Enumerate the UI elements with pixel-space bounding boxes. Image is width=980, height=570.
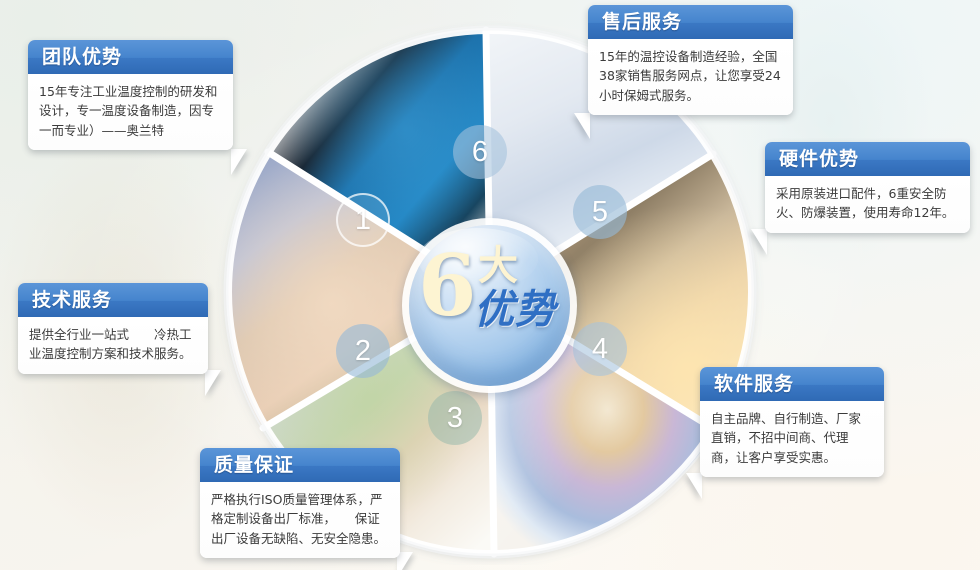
callout-team-body: 15年专注工业温度控制的研发和设计，专一温度设备制造，因专一而专业）——奥兰特 [28, 74, 233, 150]
segment-number-1[interactable]: 1 [336, 193, 390, 247]
segment-number-3-label: 3 [447, 402, 463, 435]
segment-number-5-label: 5 [592, 196, 608, 229]
segment-number-2-label: 2 [355, 335, 371, 368]
callout-team-advantage[interactable]: 团队优势 15年专注工业温度控制的研发和设计，专一温度设备制造，因专一而专业）—… [28, 40, 233, 150]
center-char-da: 大 [478, 246, 518, 286]
callout-tech-box: 技术服务 提供全行业一站式 冷热工业温度控制方案和技术服务。 [18, 283, 208, 374]
callout-team-tail [231, 149, 247, 175]
segment-number-2[interactable]: 2 [336, 324, 390, 378]
segment-number-1-label: 1 [355, 204, 371, 237]
segment-number-5[interactable]: 5 [573, 185, 627, 239]
callout-after-sales-tail [574, 113, 590, 139]
callout-after-sales-title: 售后服务 [588, 5, 793, 39]
callout-hardware-tail [751, 229, 767, 255]
callout-software-tail [686, 473, 702, 499]
callout-quality-box: 质量保证 严格执行ISO质量管理体系，严格定制设备出厂标准， 保证出厂设备无缺陷… [200, 448, 400, 558]
callout-software-body: 自主品牌、自行制造、厂家直销，不招中间商、代理商，让客户享受实惠。 [700, 401, 884, 477]
callout-tech-title: 技术服务 [18, 283, 208, 317]
callout-after-sales[interactable]: 售后服务 15年的温控设备制造经验，全国38家销售服务网点，让您享受24小时保姆… [588, 5, 793, 115]
callout-software-title: 软件服务 [700, 367, 884, 401]
callout-quality-assurance[interactable]: 质量保证 严格执行ISO质量管理体系，严格定制设备出厂标准， 保证出厂设备无缺陷… [200, 448, 400, 558]
callout-hardware-advantage[interactable]: 硬件优势 采用原装进口配件，6重安全防火、防爆装置，使用寿命12年。 [765, 142, 970, 233]
callout-quality-body: 严格执行ISO质量管理体系，严格定制设备出厂标准， 保证出厂设备无缺陷、无安全隐… [200, 482, 400, 558]
center-number-6: 6 [418, 244, 476, 328]
callout-hardware-title: 硬件优势 [765, 142, 970, 176]
callout-tech-body: 提供全行业一站式 冷热工业温度控制方案和技术服务。 [18, 317, 208, 374]
callout-software-box: 软件服务 自主品牌、自行制造、厂家直销，不招中间商、代理商，让客户享受实惠。 [700, 367, 884, 477]
callout-after-sales-body: 15年的温控设备制造经验，全国38家销售服务网点，让您享受24小时保姆式服务。 [588, 39, 793, 115]
callout-tech-service[interactable]: 技术服务 提供全行业一站式 冷热工业温度控制方案和技术服务。 [18, 283, 208, 374]
callout-team-title: 团队优势 [28, 40, 233, 74]
callout-hardware-box: 硬件优势 采用原装进口配件，6重安全防火、防爆装置，使用寿命12年。 [765, 142, 970, 233]
callout-software-service[interactable]: 软件服务 自主品牌、自行制造、厂家直销，不招中间商、代理商，让客户享受实惠。 [700, 367, 884, 477]
callout-quality-title: 质量保证 [200, 448, 400, 482]
segment-number-6[interactable]: 6 [453, 125, 507, 179]
callout-tech-tail [205, 370, 221, 396]
center-char-youshi: 优势 [474, 290, 556, 330]
segment-number-3[interactable]: 3 [428, 391, 482, 445]
callout-hardware-body: 采用原装进口配件，6重安全防火、防爆装置，使用寿命12年。 [765, 176, 970, 233]
callout-team-box: 团队优势 15年专注工业温度控制的研发和设计，专一温度设备制造，因专一而专业）—… [28, 40, 233, 150]
callout-quality-tail [397, 552, 413, 570]
segment-number-4[interactable]: 4 [573, 322, 627, 376]
segment-number-4-label: 4 [592, 333, 608, 366]
callout-after-sales-box: 售后服务 15年的温控设备制造经验，全国38家销售服务网点，让您享受24小时保姆… [588, 5, 793, 115]
center-emblem[interactable]: 6 大 优势 [402, 218, 577, 393]
segment-number-6-label: 6 [472, 136, 488, 169]
center-text-group: 6 大 优势 [402, 218, 577, 393]
